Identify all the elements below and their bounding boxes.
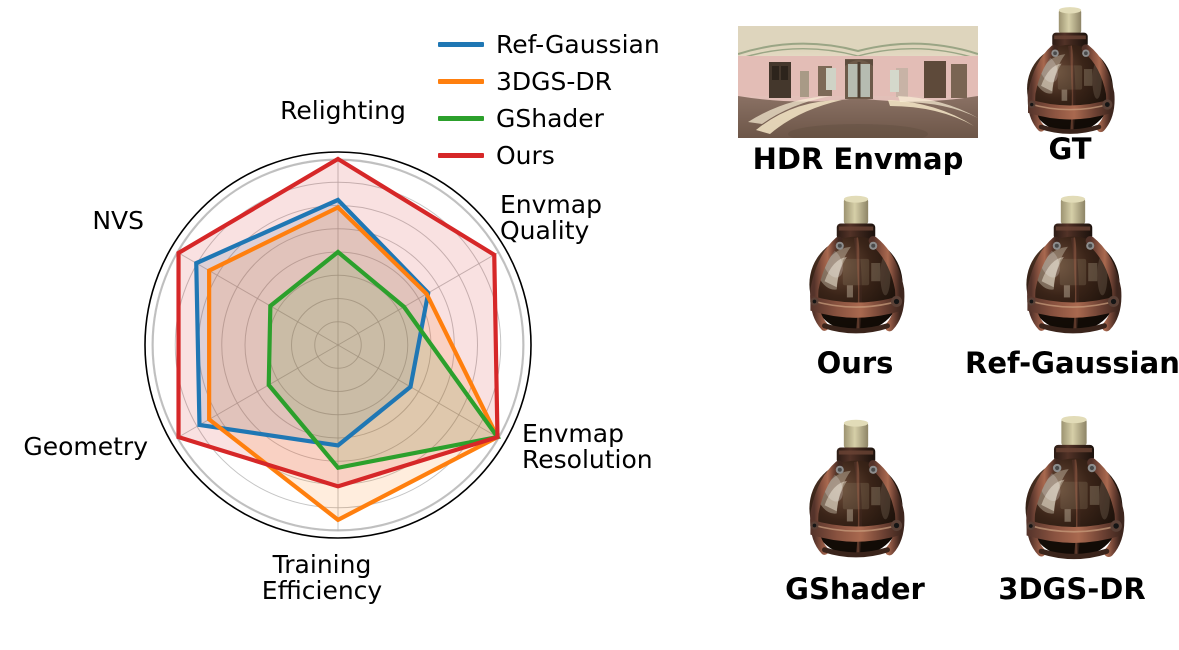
potion-bottle-image-gt: [995, 0, 1145, 140]
legend-item-ours[interactable]: Ours: [438, 141, 555, 170]
radar-chart-panel: Relighting Envmap Quality Envmap Resolut…: [0, 0, 690, 650]
results-caption-ours: Ours: [730, 346, 980, 380]
legend-label-3dgs-dr: 3DGS-DR: [496, 67, 612, 96]
potion-bottle-image-ref-gaussian: [993, 188, 1153, 340]
results-caption-3dgs-dr: 3DGS-DR: [965, 572, 1179, 606]
results-cell-3dgs-dr: 3DGS-DR: [965, 408, 1179, 622]
radar-series-group: [179, 159, 498, 520]
potion-bottle-image-3dgs-dr: [991, 408, 1157, 566]
results-caption-gshader: GShader: [730, 572, 980, 606]
axis-label-envmap-quality: Envmap Quality: [500, 192, 680, 245]
axis-label-envmap-resolution: Envmap Resolution: [522, 421, 702, 474]
potion-bottle-image-ours: [776, 188, 936, 340]
results-cell-ours: Ours: [730, 188, 980, 388]
legend-item-ref-gaussian[interactable]: Ref-Gaussian: [438, 30, 660, 59]
legend-label-gshader: GShader: [496, 104, 604, 133]
figure-root: Relighting Envmap Quality Envmap Resolut…: [0, 0, 1179, 650]
results-cell-gshader: GShader: [730, 412, 980, 622]
hdr-envmap-panorama-image: [738, 26, 978, 138]
axis-label-relighting: Relighting: [258, 98, 428, 124]
legend-swatch-ours: [438, 153, 484, 158]
results-caption-hdr-envmap: HDR Envmap: [734, 142, 982, 176]
axis-label-training-efficiency: Training Efficiency: [232, 552, 412, 605]
relighting-results-panel: Relighting Results: [690, 0, 1179, 650]
axis-label-geometry: Geometry: [0, 434, 148, 460]
legend-swatch-ref-gaussian: [438, 42, 484, 47]
potion-bottle-image-gshader: [776, 412, 936, 564]
results-cell-ref-gaussian: Ref-Gaussian: [965, 188, 1179, 388]
results-cell-hdr-envmap: HDR Envmap: [738, 26, 982, 171]
axis-label-nvs: NVS: [24, 208, 144, 234]
legend-label-ours: Ours: [496, 141, 555, 170]
legend-item-3dgs-dr[interactable]: 3DGS-DR: [438, 67, 612, 96]
legend-label-ref-gaussian: Ref-Gaussian: [496, 30, 660, 59]
legend-swatch-3dgs-dr: [438, 79, 484, 84]
results-caption-gt: GT: [980, 132, 1160, 166]
results-caption-ref-gaussian: Ref-Gaussian: [965, 346, 1179, 380]
legend-item-gshader[interactable]: GShader: [438, 104, 604, 133]
legend-swatch-gshader: [438, 116, 484, 121]
results-cell-gt: GT: [980, 0, 1160, 175]
